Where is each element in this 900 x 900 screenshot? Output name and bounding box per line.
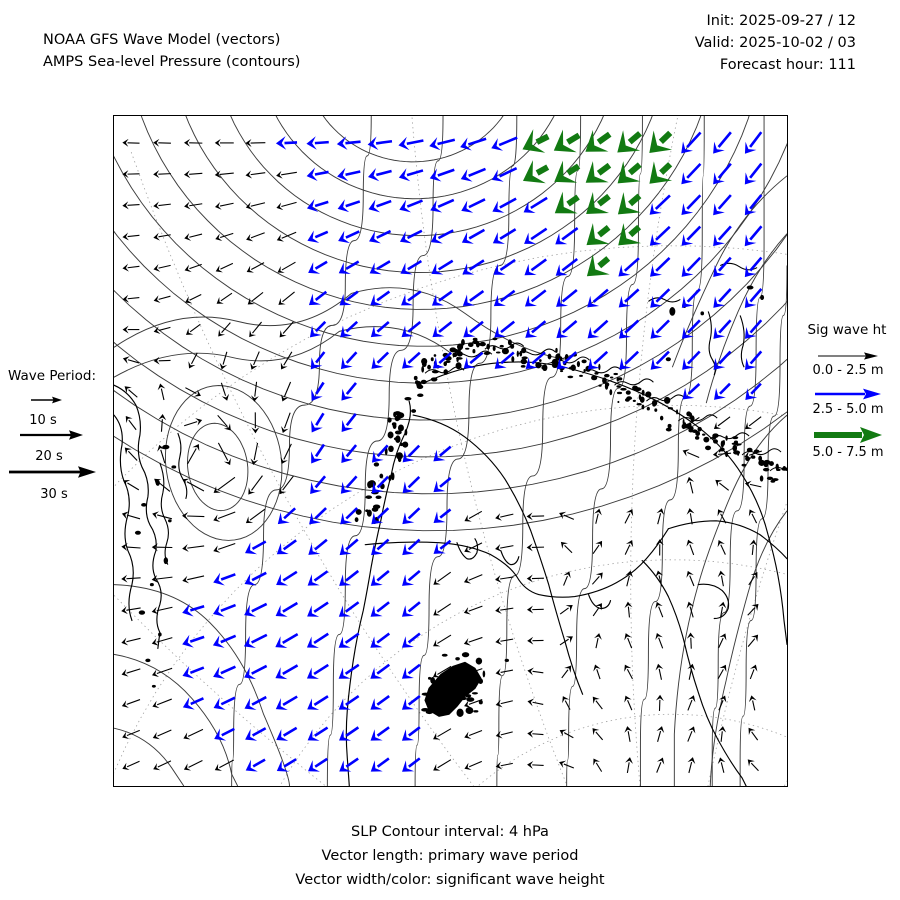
wave-period-legend-title: Wave Period:: [8, 368, 112, 384]
wave-period-arrow-30s: [8, 464, 98, 480]
swh-label-high: 5.0 - 7.5 m: [800, 445, 896, 460]
header-line-model: NOAA GFS Wave Model (vectors): [43, 29, 300, 51]
sig-wave-height-legend-title: Sig wave ht: [798, 322, 896, 338]
map-panel[interactable]: [113, 115, 788, 787]
wave-period-arrow-20s: [19, 428, 85, 442]
figure-root: NOAA GFS Wave Model (vectors) AMPS Sea-l…: [0, 0, 900, 900]
wave-period-legend: Wave Period: 10 s 20 s 30 s: [8, 368, 112, 502]
header-line-pressure: AMPS Sea-level Pressure (contours): [43, 51, 300, 73]
swh-entry-mid: 2.5 - 5.0 m: [800, 387, 896, 417]
header-line-init: Init: 2025-09-27 / 12: [695, 10, 856, 32]
caption-line-vector-length: Vector length: primary wave period: [0, 844, 900, 868]
wave-period-entry-10s: [8, 394, 112, 406]
wave-period-arrow-10s: [30, 394, 64, 406]
wave-period-entry-30s: [8, 464, 112, 480]
caption-line-contour-interval: SLP Contour interval: 4 hPa: [0, 820, 900, 844]
wave-period-label-10s: 10 s: [8, 413, 78, 428]
wave-period-label-20s: 20 s: [8, 449, 90, 464]
header-line-forecast-hour: Forecast hour: 111: [695, 54, 856, 76]
swh-label-low: 0.0 - 2.5 m: [800, 363, 896, 378]
wave-period-label-30s: 30 s: [8, 487, 100, 502]
sig-wave-height-legend: Sig wave ht 0.0 - 2.5 m 2.5 - 5.0 m 5.0 …: [800, 322, 896, 469]
header-model-info: NOAA GFS Wave Model (vectors) AMPS Sea-l…: [43, 29, 300, 73]
swh-arrow-high: [812, 426, 884, 444]
swh-label-mid: 2.5 - 5.0 m: [800, 402, 896, 417]
header-run-info: Init: 2025-09-27 / 12 Valid: 2025-10-02 …: [695, 10, 856, 76]
figure-caption: SLP Contour interval: 4 hPa Vector lengt…: [0, 820, 900, 892]
swh-arrow-mid: [813, 387, 883, 401]
caption-line-vector-width: Vector width/color: significant wave hei…: [0, 868, 900, 892]
header-line-valid: Valid: 2025-10-02 / 03: [695, 32, 856, 54]
swh-entry-high: 5.0 - 7.5 m: [800, 426, 896, 460]
map-plot-area[interactable]: [114, 116, 787, 786]
swh-entry-low: 0.0 - 2.5 m: [800, 350, 896, 378]
swh-arrow-low: [816, 350, 880, 362]
wave-period-entry-20s: [8, 428, 112, 442]
